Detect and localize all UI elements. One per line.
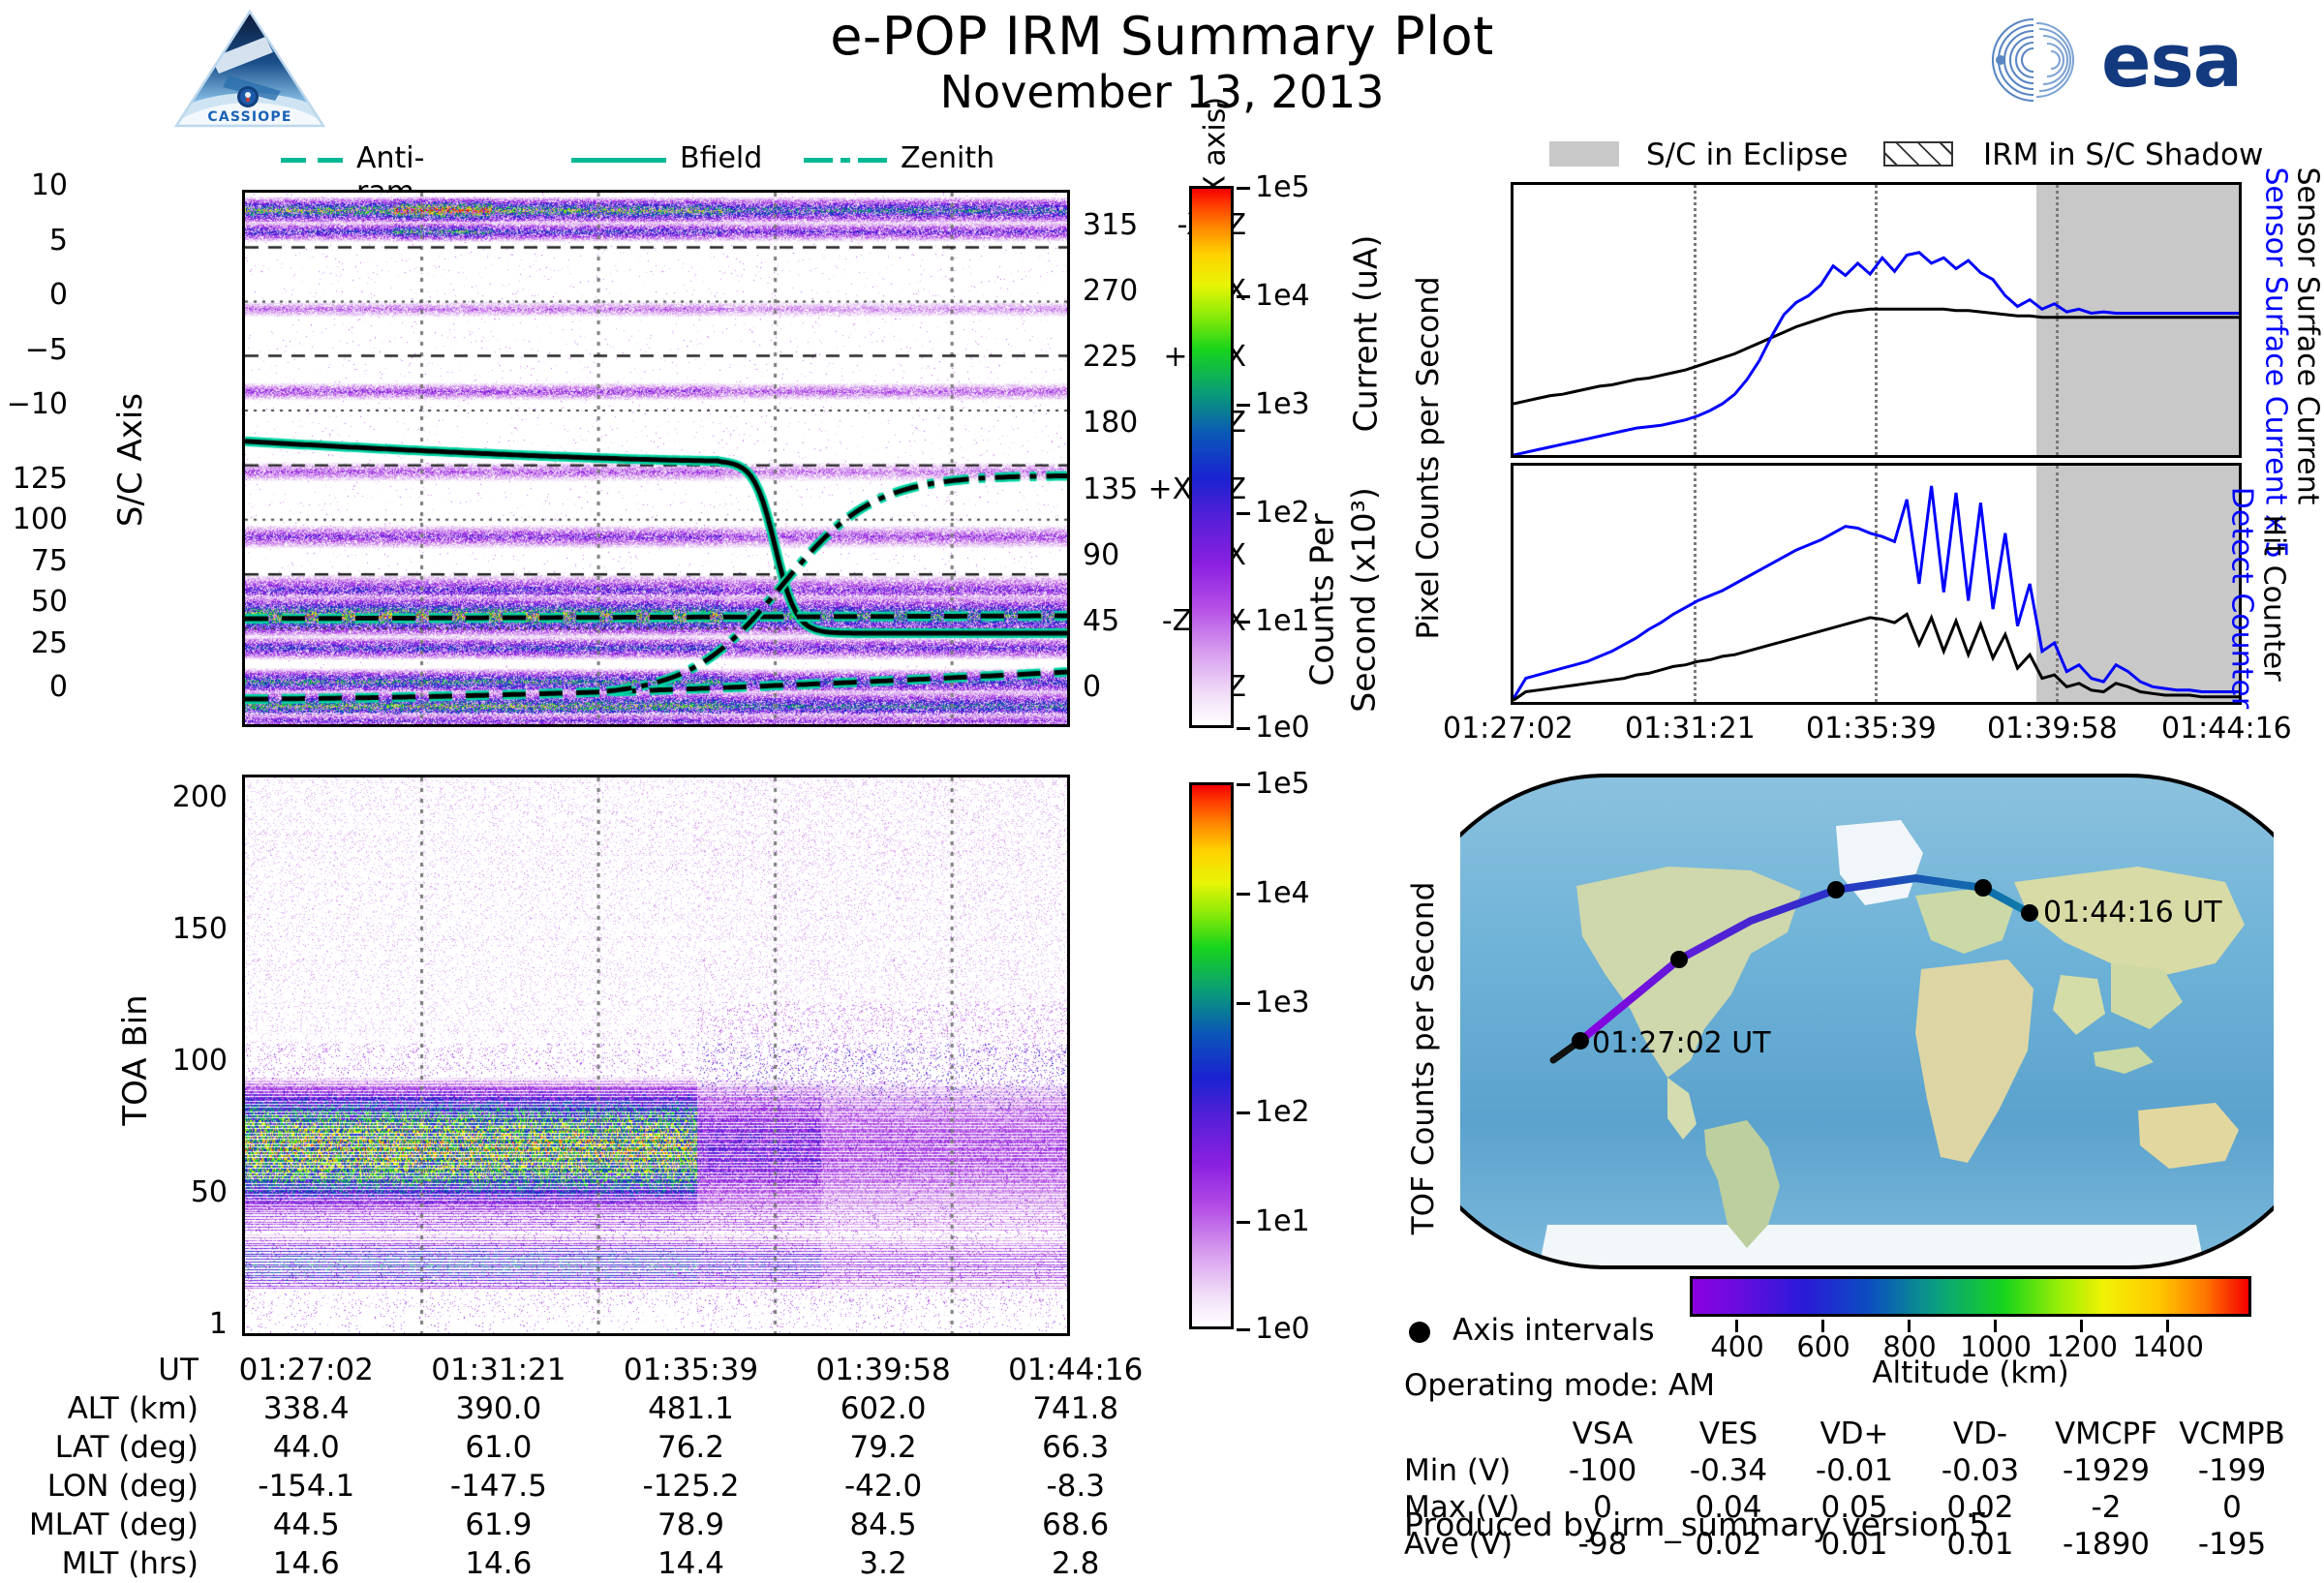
legend-label-bfield: Bfield xyxy=(680,141,762,175)
counts-ytick-25: 25 xyxy=(31,626,68,660)
volt-row-min: Min (V) xyxy=(1404,1452,1540,1489)
cb1-tick-1 xyxy=(1237,295,1250,298)
legend-line-dashdot-a xyxy=(804,158,833,163)
ut-v4: 01:44:16 xyxy=(979,1351,1172,1389)
cb1-tick-2 xyxy=(1237,404,1250,407)
counts-ylabel-line1: Counts Per xyxy=(1303,455,1341,746)
table-row: MLAT (deg) 44.5 61.9 78.9 84.5 68.6 xyxy=(29,1506,1172,1544)
mlat-v0: 44.5 xyxy=(210,1506,403,1544)
volt-col-vcmpb: VCMPB xyxy=(2169,1416,2295,1452)
lon-v3: -42.0 xyxy=(787,1467,980,1506)
mlt-v1: 14.6 xyxy=(403,1544,596,1583)
counts-ytick-75: 75 xyxy=(31,544,68,578)
mlt-v0: 14.6 xyxy=(210,1544,403,1583)
mlt-v2: 14.4 xyxy=(595,1544,787,1583)
eclipse-swatch xyxy=(1549,141,1619,167)
cb1-label-1e5: 1e5 xyxy=(1255,170,1310,204)
alt-v3: 602.0 xyxy=(787,1389,980,1428)
toa-ylabel: TOA Bin xyxy=(116,915,155,1205)
counts-right-label-blue: Detect Counter xyxy=(2225,472,2259,724)
produced-by-label: Produced by irm_summary version 5 xyxy=(1404,1506,1989,1543)
min-vdm: -0.03 xyxy=(1917,1452,2043,1489)
angle-ytick-90: 90 xyxy=(1083,538,1119,572)
angle-ytick-225: 225 xyxy=(1083,340,1138,374)
current-traces xyxy=(1514,185,2239,455)
counts-ylabel-line2: Second (x10³) xyxy=(1345,455,1383,746)
cb2-label-1e0: 1e0 xyxy=(1255,1312,1310,1346)
legend-line-dashdot-b xyxy=(841,158,850,163)
cb2-tick-0 xyxy=(1237,783,1250,786)
toa-bin-spectrogram-canvas xyxy=(245,777,1067,1333)
row-label-lon: LON (deg) xyxy=(29,1467,210,1506)
table-row: VSA VES VD+ VD- VMCPF VCMPB xyxy=(1404,1416,2295,1452)
cassiope-mission-patch-logo: CASSIOPE xyxy=(172,8,327,130)
table-row: LAT (deg) 44.0 61.0 76.2 79.2 66.3 xyxy=(29,1428,1172,1467)
current-ytick-10: 10 xyxy=(31,168,68,202)
table-row: LON (deg) -154.1 -147.5 -125.2 -42.0 -8.… xyxy=(29,1467,1172,1506)
tof-counts-colorbar xyxy=(1189,782,1234,1329)
cb2-tick-5 xyxy=(1237,1328,1250,1331)
map-end-time-label: 01:44:16 UT xyxy=(2043,896,2222,929)
table-row: MLT (hrs) 14.6 14.6 14.4 3.2 2.8 xyxy=(29,1544,1172,1583)
cb1-label-1e2: 1e2 xyxy=(1255,496,1310,530)
legend-line-dashed xyxy=(281,158,306,163)
counts-ytick-50: 50 xyxy=(31,585,68,619)
counts-ytick-100: 100 xyxy=(13,502,68,536)
ut-v1: 01:31:21 xyxy=(403,1351,596,1389)
current-panel xyxy=(1511,182,2242,458)
lat-v2: 76.2 xyxy=(595,1428,787,1467)
current-ytick-0: 0 xyxy=(49,278,68,312)
angle-ytick-135: 135 xyxy=(1083,472,1138,506)
lat-v0: 44.0 xyxy=(210,1428,403,1467)
min-ves: -0.34 xyxy=(1666,1452,1791,1489)
mlt-v3: 3.2 xyxy=(787,1544,980,1583)
sc-axis-ylabel: S/C Axis xyxy=(111,315,150,605)
min-vdp: -0.01 xyxy=(1791,1452,1917,1489)
alt-v4: 741.8 xyxy=(979,1389,1172,1428)
cb1-tick-4 xyxy=(1237,621,1250,624)
angle-ytick-180: 180 xyxy=(1083,406,1138,440)
max-vmcpf: -2 xyxy=(2043,1489,2169,1526)
cb2-label-1e4: 1e4 xyxy=(1255,876,1310,910)
cb1-tick-0 xyxy=(1237,187,1250,190)
svg-text:CASSIOPE: CASSIOPE xyxy=(207,109,291,125)
alt-v2: 481.1 xyxy=(595,1389,787,1428)
cb2-title: TOF Counts per Second xyxy=(1406,787,1441,1329)
ut-v0: 01:27:02 xyxy=(210,1351,403,1389)
cb2-label-1e2: 1e2 xyxy=(1255,1095,1310,1129)
cb1-tick-5 xyxy=(1237,727,1250,730)
esa-logo: esa xyxy=(1975,12,2285,107)
table-row: Min (V) -100 -0.34 -0.01 -0.03 -1929 -19… xyxy=(1404,1452,2295,1489)
current-right-label-blue: Sensor Surface Current x 5 xyxy=(2259,167,2293,487)
current-ylabel: Current (uA) xyxy=(1347,174,1385,494)
esa-wordmark: esa xyxy=(2101,17,2242,104)
axis-intervals-dot-icon xyxy=(1406,1313,1445,1352)
row-label-lat: LAT (deg) xyxy=(29,1428,210,1467)
cb1-label-1e3: 1e3 xyxy=(1255,387,1310,421)
altitude-colorbar-title: Altitude (km) xyxy=(1690,1355,2251,1390)
cb2-label-1e3: 1e3 xyxy=(1255,986,1310,1020)
legend-label-zenith: Zenith xyxy=(901,141,994,175)
volt-col-vsa: VSA xyxy=(1540,1416,1666,1452)
row-label-alt: ALT (km) xyxy=(29,1389,210,1428)
operating-mode-label: Operating mode: AM xyxy=(1404,1368,1715,1403)
angle-ytick-270: 270 xyxy=(1083,274,1138,308)
angle-ytick-315: 315 xyxy=(1083,208,1138,242)
counts-panel xyxy=(1511,463,2242,705)
ave-vmcpf: -1890 xyxy=(2043,1526,2169,1563)
cb2-tick-2 xyxy=(1237,1002,1250,1005)
min-vcmpb: -199 xyxy=(2169,1452,2295,1489)
table-row: UT 01:27:02 01:31:21 01:35:39 01:39:58 0… xyxy=(29,1351,1172,1389)
cb1-label-1e4: 1e4 xyxy=(1255,279,1310,313)
cb2-label-1e1: 1e1 xyxy=(1255,1204,1310,1238)
ut-v2: 01:35:39 xyxy=(595,1351,787,1389)
current-right-label-black: Sensor Surface Current xyxy=(2291,167,2324,487)
toa-bin-spectrogram-panel xyxy=(242,775,1070,1336)
shadow-swatch-hatched xyxy=(1883,141,1953,167)
volt-col-vmcpf: VMCPF xyxy=(2043,1416,2169,1452)
alt-v1: 390.0 xyxy=(403,1389,596,1428)
cb1-tick-3 xyxy=(1237,512,1250,515)
time-tick-0: 01:27:02 xyxy=(1443,712,1574,746)
mlat-v1: 61.9 xyxy=(403,1506,596,1544)
mlt-v4: 2.8 xyxy=(979,1544,1172,1583)
table-row: ALT (km) 338.4 390.0 481.1 602.0 741.8 xyxy=(29,1389,1172,1428)
time-tick-4: 01:44:16 xyxy=(2161,712,2292,746)
cb1-title: Pixel Counts per Second xyxy=(1411,187,1446,729)
cb2-tick-1 xyxy=(1237,893,1250,896)
world-map xyxy=(1460,770,2274,1273)
volt-corner xyxy=(1404,1416,1540,1452)
lat-v1: 61.0 xyxy=(403,1428,596,1467)
cb2-tick-4 xyxy=(1237,1221,1250,1224)
min-vmcpf: -1929 xyxy=(2043,1452,2169,1489)
mlat-v3: 84.5 xyxy=(787,1506,980,1544)
cb2-label-1e5: 1e5 xyxy=(1255,767,1310,801)
axis-intervals-label: Axis intervals xyxy=(1452,1313,1655,1348)
ut-v3: 01:39:58 xyxy=(787,1351,980,1389)
volt-col-vdp: VD+ xyxy=(1791,1416,1917,1452)
toa-ytick-1: 1 xyxy=(209,1307,228,1341)
row-label-ut: UT xyxy=(29,1351,210,1389)
eclipse-legend-label: S/C in Eclipse xyxy=(1646,137,1849,172)
ave-vcmpb: -195 xyxy=(2169,1526,2295,1563)
row-label-mlt: MLT (hrs) xyxy=(29,1544,210,1583)
min-vsa: -100 xyxy=(1540,1452,1666,1489)
counts-traces xyxy=(1514,466,2239,702)
alt-v0: 338.4 xyxy=(210,1389,403,1428)
toa-ytick-100: 100 xyxy=(172,1044,228,1078)
time-tick-3: 01:39:58 xyxy=(1987,712,2118,746)
lon-v1: -147.5 xyxy=(403,1467,596,1506)
attitude-legend: Anti-ram Bfield Zenith xyxy=(281,143,1017,176)
max-vcmpb: 0 xyxy=(2169,1489,2295,1526)
lat-v3: 79.2 xyxy=(787,1428,980,1467)
legend-line-dashed-2 xyxy=(318,158,343,163)
time-tick-1: 01:31:21 xyxy=(1625,712,1756,746)
cb1-label-1e1: 1e1 xyxy=(1255,604,1310,638)
lon-v0: -154.1 xyxy=(210,1467,403,1506)
toa-ytick-50: 50 xyxy=(191,1175,228,1209)
lon-v2: -125.2 xyxy=(595,1467,787,1506)
pixel-counts-colorbar xyxy=(1189,186,1234,728)
lat-v4: 66.3 xyxy=(979,1428,1172,1467)
angle-ytick-0: 0 xyxy=(1083,670,1101,704)
lon-v4: -8.3 xyxy=(979,1467,1172,1506)
row-label-mlat: MLAT (deg) xyxy=(29,1506,210,1544)
mlat-v4: 68.6 xyxy=(979,1506,1172,1544)
ephemeris-table: UT 01:27:02 01:31:21 01:35:39 01:39:58 0… xyxy=(29,1351,1172,1583)
current-ytick-m10: −10 xyxy=(7,387,68,421)
altitude-colorbar xyxy=(1690,1276,2251,1317)
current-ytick-m5: −5 xyxy=(25,333,68,367)
legend-line-dashdot-c xyxy=(858,158,887,163)
ground-track-map: 01:27:02 UT 01:44:16 UT xyxy=(1460,770,2274,1273)
cb1-label-1e0: 1e0 xyxy=(1255,711,1310,745)
counts-ytick-0: 0 xyxy=(49,670,68,704)
counts-ytick-125: 125 xyxy=(13,462,68,496)
cb2-tick-3 xyxy=(1237,1111,1250,1114)
sc-axis-spectrogram-canvas xyxy=(245,193,1067,724)
angle-ytick-45: 45 xyxy=(1083,604,1119,638)
current-ytick-5: 5 xyxy=(49,224,68,258)
volt-col-vdm: VD- xyxy=(1917,1416,2043,1452)
legend-line-solid xyxy=(571,158,666,163)
volt-col-ves: VES xyxy=(1666,1416,1791,1452)
shadow-legend-label: IRM in S/C Shadow xyxy=(1983,137,2263,172)
toa-ytick-200: 200 xyxy=(172,780,228,814)
toa-ytick-150: 150 xyxy=(172,912,228,946)
time-tick-2: 01:35:39 xyxy=(1806,712,1937,746)
sc-axis-spectrogram-panel xyxy=(242,190,1070,727)
mlat-v2: 78.9 xyxy=(595,1506,787,1544)
eclipse-shadow-legend: S/C in Eclipse IRM in S/C Shadow xyxy=(1549,137,2324,170)
counts-right-label-black: Hit Counter xyxy=(2257,472,2291,724)
map-start-time-label: 01:27:02 UT xyxy=(1592,1026,1771,1060)
